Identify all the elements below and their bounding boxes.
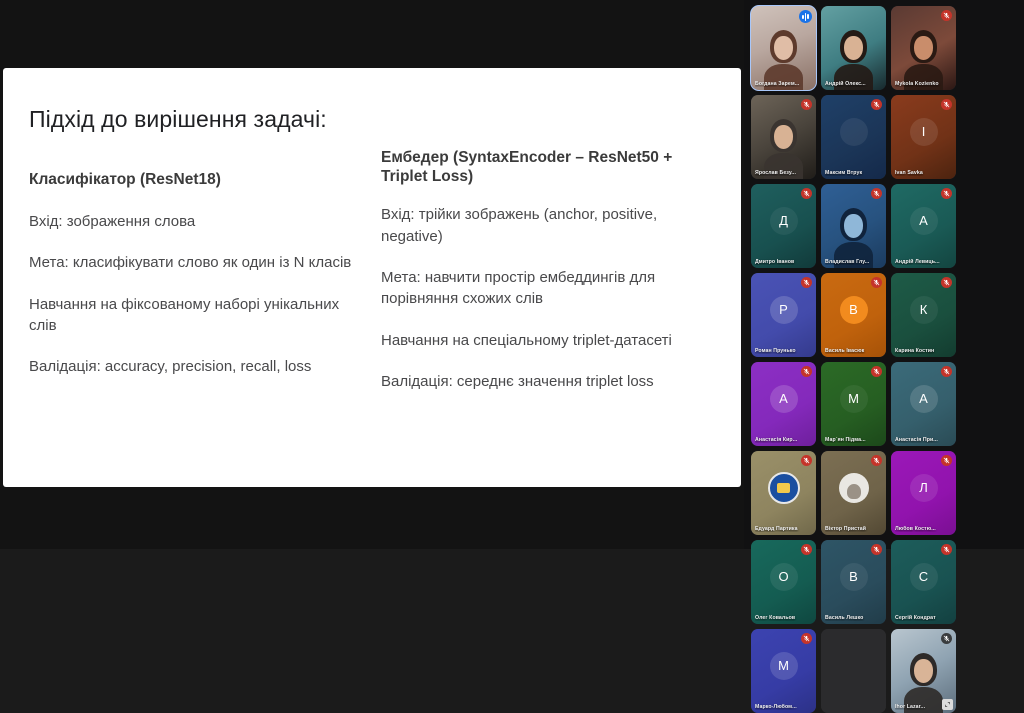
mic-muted-icon <box>801 455 812 466</box>
participant-tile[interactable]: ААндрій Левиць... <box>891 184 956 268</box>
participant-tile[interactable]: Владислав Глу... <box>821 184 886 268</box>
embedder-input: Вхід: трійки зображень (anchor, positive… <box>381 204 715 247</box>
avatar: А <box>770 385 798 413</box>
participant-name: Ярослав Безу... <box>755 170 812 176</box>
participant-tile[interactable]: ААнастасія При... <box>891 362 956 446</box>
mic-muted-icon <box>801 188 812 199</box>
participant-tile[interactable]: IIvan Savka <box>891 95 956 179</box>
meeting-screen: Підхід до вирішення задачі: Класифікатор… <box>0 0 1024 549</box>
embedder-training: Навчання на спеціальному triplet-датасет… <box>381 330 715 351</box>
participant-tile[interactable]: Едуард Партика <box>751 451 816 535</box>
participant-tile[interactable]: 👤Ще 2 особи <box>821 629 886 713</box>
participant-name: Марко-Любом... <box>755 704 812 710</box>
classifier-validation: Валідація: accuracy, precision, recall, … <box>29 356 363 377</box>
slide-title: Підхід до вирішення задачі: <box>29 106 715 134</box>
embedder-validation: Валідація: середнє значення triplet loss <box>381 371 715 392</box>
audio-wave-icon <box>799 10 812 23</box>
participant-tile[interactable]: Андрій Олекс... <box>821 6 886 90</box>
participant-tile[interactable]: ККарина Костин <box>891 273 956 357</box>
avatar: М <box>770 652 798 680</box>
avatar: Р <box>770 296 798 324</box>
participant-grid: Богдана Зарем...Андрій Олекс...Mykola Ko… <box>751 6 1019 713</box>
avatar: С <box>910 563 938 591</box>
mic-muted-icon <box>801 633 812 644</box>
mic-muted-icon <box>941 544 952 555</box>
participant-name: Максим Втрук <box>825 170 882 176</box>
mic-muted-icon <box>941 99 952 110</box>
participant-tile[interactable]: ДДмитро Іванов <box>751 184 816 268</box>
participant-name: Олег Ковальов <box>755 615 812 621</box>
expand-icon[interactable] <box>942 699 953 710</box>
classifier-heading: Класифікатор (ResNet18) <box>29 170 363 189</box>
classifier-input: Вхід: зображення слова <box>29 211 363 232</box>
mic-muted-icon <box>871 366 882 377</box>
avatar: I <box>910 118 938 146</box>
mic-muted-icon <box>941 188 952 199</box>
classifier-goal: Мета: класифікувати слово як один із N к… <box>29 252 363 273</box>
participant-name: Карина Костин <box>895 348 952 354</box>
participant-tile[interactable]: ВВасиль Лешко <box>821 540 886 624</box>
participant-tile[interactable]: ООлег Ковальов <box>751 540 816 624</box>
participant-tile[interactable]: ЛЛюбов Костю... <box>891 451 956 535</box>
avatar <box>840 118 868 146</box>
participant-tile[interactable]: Богдана Зарем... <box>751 6 816 90</box>
tile-background <box>821 629 886 713</box>
participant-name: Василь Лешко <box>825 615 882 621</box>
avatar: А <box>910 207 938 235</box>
participant-name: Анастасія При... <box>895 437 952 443</box>
avatar: В <box>840 563 868 591</box>
avatar: К <box>910 296 938 324</box>
mic-muted-icon <box>941 633 952 644</box>
presentation-stage[interactable]: Підхід до вирішення задачі: Класифікатор… <box>0 0 744 549</box>
participant-tile[interactable]: РРоман Прунько <box>751 273 816 357</box>
mic-muted-icon <box>871 455 882 466</box>
avatar: О <box>770 563 798 591</box>
mic-muted-icon <box>871 188 882 199</box>
mic-muted-icon <box>941 277 952 288</box>
mic-muted-icon <box>801 277 812 288</box>
mic-muted-icon <box>801 544 812 555</box>
avatar: М <box>840 385 868 413</box>
avatar: Л <box>910 474 938 502</box>
participant-tile[interactable]: Віктор Пристай <box>821 451 886 535</box>
participant-name: Владислав Глу... <box>825 259 882 265</box>
participant-name: Любов Костю... <box>895 526 952 532</box>
embedder-heading: Ембедер (SyntaxEncoder – ResNet50 + Trip… <box>381 148 715 187</box>
mic-muted-icon <box>871 277 882 288</box>
slide-column-embedder: Ембедер (SyntaxEncoder – ResNet50 + Trip… <box>381 170 715 413</box>
participant-video <box>821 6 886 90</box>
participant-tile[interactable]: ВВасиль Івасюк <box>821 273 886 357</box>
participant-tile[interactable]: Максим Втрук <box>821 95 886 179</box>
participant-rail[interactable]: Богдана Зарем...Андрій Олекс...Mykola Ko… <box>744 0 1024 549</box>
mic-muted-icon <box>801 366 812 377</box>
participant-tile[interactable]: ССергій Кондрат <box>891 540 956 624</box>
avatar: Д <box>770 207 798 235</box>
participant-name: Богдана Зарем... <box>755 81 812 87</box>
participant-name: Mykola Kozienko <box>895 81 952 87</box>
avatar-photo <box>839 473 869 503</box>
participant-name: Дмитро Іванов <box>755 259 812 265</box>
participant-name: Едуард Партика <box>755 526 812 532</box>
participant-tile[interactable]: ААнастасія Кир... <box>751 362 816 446</box>
embedder-goal: Мета: навчити простір ембеддингів для по… <box>381 267 715 310</box>
participant-name: Андрій Олекс... <box>825 81 882 87</box>
classifier-training: Навчання на фіксованому наборі унікальни… <box>29 294 363 337</box>
participant-tile[interactable]: Ihor Lazar... <box>891 629 956 713</box>
participant-tile[interactable]: ММарко-Любом... <box>751 629 816 713</box>
participant-name: Сергій Кондрат <box>895 615 952 621</box>
participant-tile[interactable]: Ярослав Безу... <box>751 95 816 179</box>
avatar-logo <box>768 472 800 504</box>
mic-muted-icon <box>941 366 952 377</box>
participant-name: Віктор Пристай <box>825 526 882 532</box>
participant-tile[interactable]: ММар`ян Підма... <box>821 362 886 446</box>
mic-muted-icon <box>801 99 812 110</box>
mic-muted-icon <box>941 455 952 466</box>
mic-muted-icon <box>941 10 952 21</box>
participant-name: Василь Івасюк <box>825 348 882 354</box>
slide-column-classifier: Класифікатор (ResNet18) Вхід: зображення… <box>29 170 363 413</box>
shared-slide[interactable]: Підхід до вирішення задачі: Класифікатор… <box>3 68 741 487</box>
avatar: В <box>840 296 868 324</box>
participant-name: Роман Прунько <box>755 348 812 354</box>
participant-tile[interactable]: Mykola Kozienko <box>891 6 956 90</box>
participant-name: Мар`ян Підма... <box>825 437 882 443</box>
mic-muted-icon <box>871 544 882 555</box>
avatar: А <box>910 385 938 413</box>
participant-name: Андрій Левиць... <box>895 259 952 265</box>
participant-name: Анастасія Кир... <box>755 437 812 443</box>
participant-name: Ivan Savka <box>895 170 952 176</box>
slide-columns: Класифікатор (ResNet18) Вхід: зображення… <box>29 170 715 413</box>
mic-muted-icon <box>871 99 882 110</box>
